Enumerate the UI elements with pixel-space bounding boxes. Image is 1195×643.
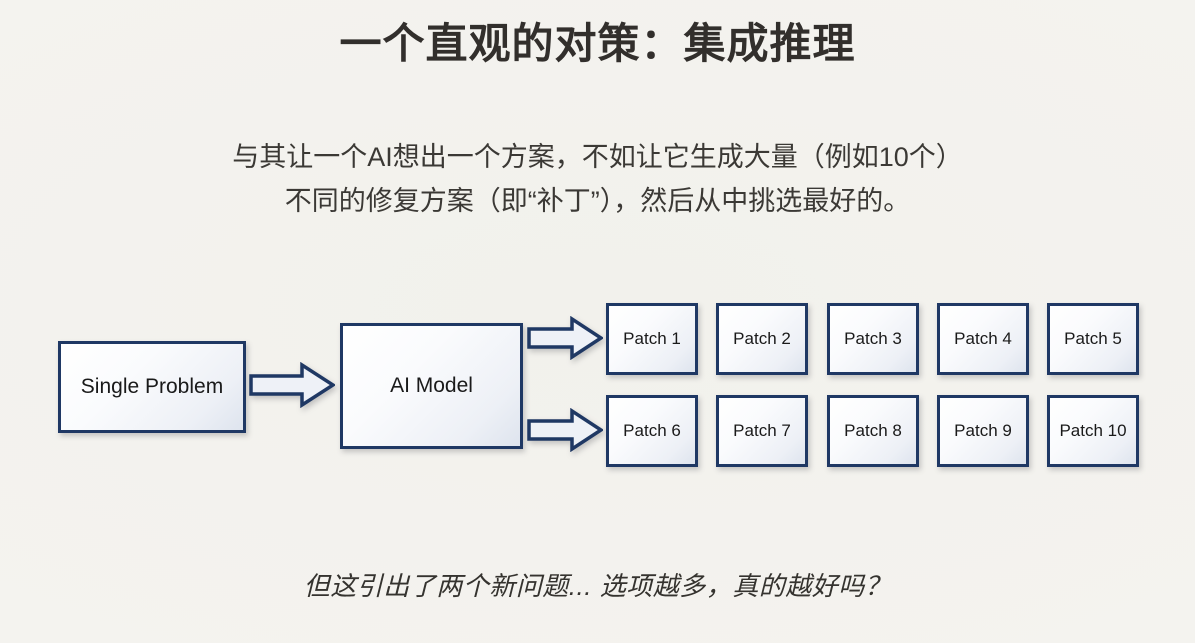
arrow-problem-to-model-icon <box>249 362 335 408</box>
node-patch-9: Patch 9 <box>937 395 1029 467</box>
slide-canvas: 一个直观的对策：集成推理 与其让一个AI想出一个方案，不如让它生成大量（例如10… <box>0 0 1195 643</box>
arrow-model-to-bottom-row-icon <box>527 408 603 452</box>
ensemble-inference-diagram: Single Problem AI Model Patch 1 Patch 2 … <box>0 0 1195 643</box>
node-patch-10: Patch 10 <box>1047 395 1139 467</box>
arrow-model-to-top-row-icon <box>527 316 603 360</box>
node-patch-4: Patch 4 <box>937 303 1029 375</box>
node-patch-3: Patch 3 <box>827 303 919 375</box>
footer-note: 但这引出了两个新问题... 选项越多，真的越好吗？ <box>0 566 1195 603</box>
node-patch-1: Patch 1 <box>606 303 698 375</box>
node-patch-8: Patch 8 <box>827 395 919 467</box>
node-patch-6: Patch 6 <box>606 395 698 467</box>
node-single-problem: Single Problem <box>58 341 246 433</box>
node-ai-model: AI Model <box>340 323 523 449</box>
node-patch-5: Patch 5 <box>1047 303 1139 375</box>
node-patch-2: Patch 2 <box>716 303 808 375</box>
node-patch-7: Patch 7 <box>716 395 808 467</box>
